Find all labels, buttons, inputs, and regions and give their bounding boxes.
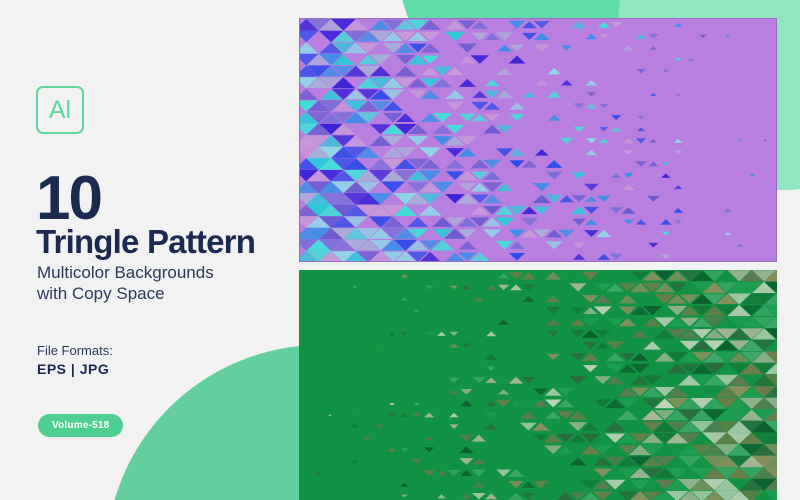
info-column: Al 10 Tringle Pattern Multicolor Backgro… [36, 0, 286, 500]
page-title: Tringle Pattern [36, 225, 255, 258]
green-pattern-svg [299, 270, 777, 500]
adobe-illustrator-icon: Al [36, 86, 84, 134]
item-count: 10 [36, 168, 101, 230]
file-formats-value: EPS | JPG [37, 361, 109, 377]
adobe-illustrator-label: Al [49, 98, 71, 123]
purple-pattern-svg [300, 19, 777, 262]
preview-green-triangle-pattern [299, 270, 777, 500]
file-formats-label: File Formats: [37, 343, 113, 358]
preview-purple-triangle-pattern [299, 18, 777, 262]
poster-canvas: Al 10 Tringle Pattern Multicolor Backgro… [0, 0, 800, 500]
volume-badge: Volume-518 [38, 414, 123, 437]
page-subtitle: Multicolor Backgroundswith Copy Space [37, 262, 282, 305]
